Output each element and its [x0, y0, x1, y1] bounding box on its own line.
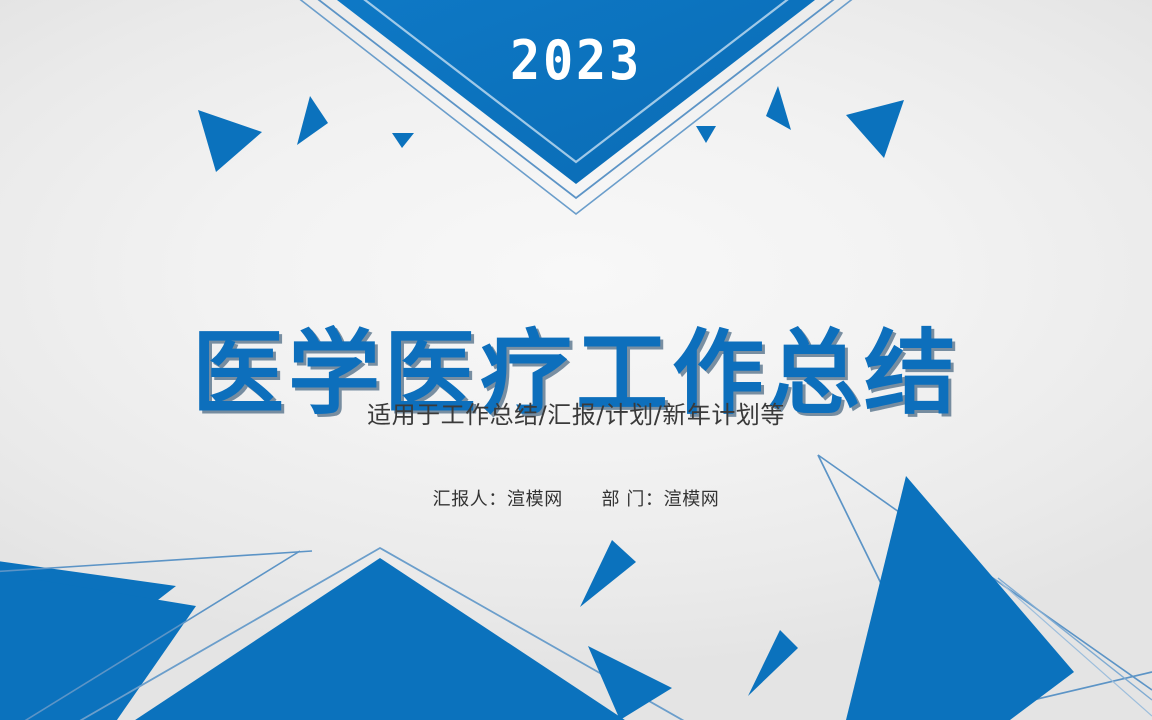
department-label: 部 门：渲模网: [601, 489, 719, 510]
presentation-slide: 2023 医学医疗工作总结 适用于工作总结/汇报/计划/新年计划等 汇报人：渲模…: [0, 0, 1152, 720]
slide-subtitle: 适用于工作总结/汇报/计划/新年计划等: [0, 400, 1152, 431]
year-label: 2023: [40, 34, 1111, 88]
presenter-label: 汇报人：渲模网: [433, 489, 563, 510]
slide-text-layer: 2023 医学医疗工作总结 适用于工作总结/汇报/计划/新年计划等 汇报人：渲模…: [0, 0, 1152, 720]
presenter-row: 汇报人：渲模网 部 门：渲模网: [0, 488, 1152, 511]
